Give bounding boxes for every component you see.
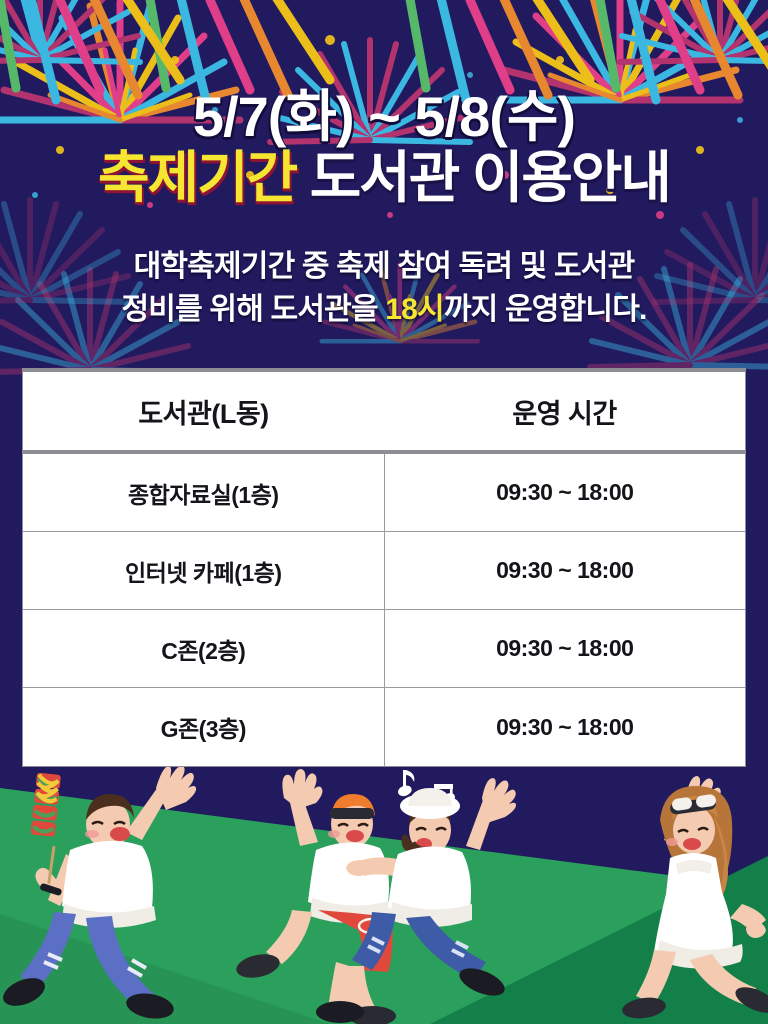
figure-man-red-shorts <box>234 769 396 1024</box>
skewer-food <box>31 773 61 837</box>
library-hours-table: 도서관(L동) 운영 시간 종합자료실(1층) 09:30 ~ 18:00 인터… <box>22 368 746 767</box>
table-row: G존(3층) 09:30 ~ 18:00 <box>23 688 745 766</box>
subtitle-closing-time: 18시 <box>385 293 444 326</box>
table-row: 인터넷 카페(1층) 09:30 ~ 18:00 <box>23 532 745 610</box>
figure-man-with-skewer <box>0 766 196 1022</box>
table-row: 종합자료실(1층) 09:30 ~ 18:00 <box>23 454 745 532</box>
subtitle-line-2: 정비를 위해 도서관을 18시까지 운영합니다. <box>0 289 768 332</box>
festival-library-notice-poster: 5/7(화) ~ 5/8(수) 축제기간 도서관 이용안내 대학축제기간 중 축… <box>0 0 768 1024</box>
cell-hours: 09:30 ~ 18:00 <box>385 610 746 687</box>
cell-place: C존(2층) <box>23 610 385 687</box>
table-row: C존(2층) 09:30 ~ 18:00 <box>23 610 745 688</box>
poster-title: 5/7(화) ~ 5/8(수) 축제기간 도서관 이용안내 <box>0 88 768 208</box>
title-main-line: 축제기간 도서관 이용안내 <box>0 149 768 208</box>
poster-subtitle: 대학축제기간 중 축제 참여 독려 및 도서관 정비를 위해 도서관을 18시까… <box>0 246 768 331</box>
cell-hours: 09:30 ~ 18:00 <box>385 532 746 609</box>
figure-woman-white-dress <box>621 776 768 1021</box>
table-header-hours: 운영 시간 <box>384 372 745 450</box>
title-rest-library-guide: 도서관 이용안내 <box>296 146 670 209</box>
table-header-place: 도서관(L동) <box>23 372 384 450</box>
cell-hours: 09:30 ~ 18:00 <box>385 688 746 766</box>
title-date-line: 5/7(화) ~ 5/8(수) <box>0 88 768 145</box>
cell-place: 종합자료실(1층) <box>23 454 385 531</box>
subtitle-line-1: 대학축제기간 중 축제 참여 독려 및 도서관 <box>0 246 768 289</box>
subtitle-before-amount: 정비를 위해 도서관을 <box>121 293 385 326</box>
dancing-people-illustration <box>0 754 768 1024</box>
cell-place: 인터넷 카페(1층) <box>23 532 385 609</box>
table-header-row: 도서관(L동) 운영 시간 <box>23 372 745 454</box>
cell-place: G존(3층) <box>23 688 385 766</box>
title-highlight-festival: 축제기간 <box>98 146 296 209</box>
subtitle-after-amount: 까지 운영합니다. <box>444 293 647 326</box>
cell-hours: 09:30 ~ 18:00 <box>385 454 746 531</box>
